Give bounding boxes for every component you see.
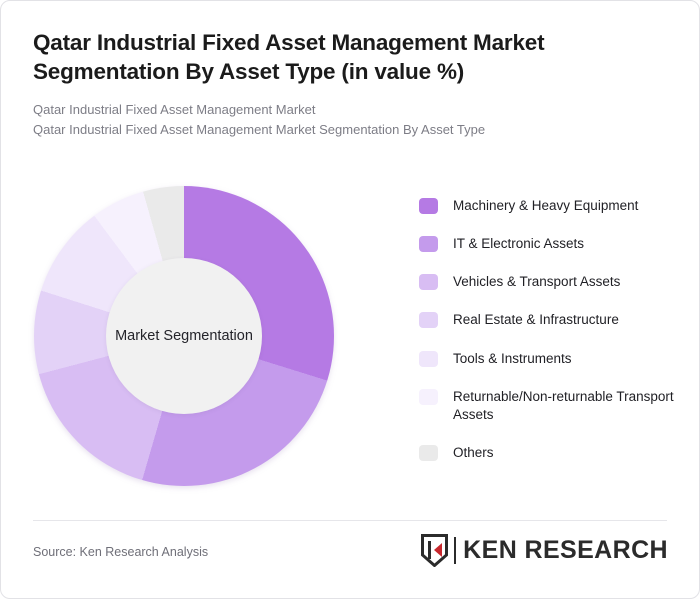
legend-swatch — [419, 274, 438, 290]
legend-item[interactable]: Vehicles & Transport Assets — [419, 273, 679, 292]
chart-card: Qatar Industrial Fixed Asset Management … — [0, 0, 700, 599]
legend-item[interactable]: Machinery & Heavy Equipment — [419, 197, 679, 216]
legend-item[interactable]: Real Estate & Infrastructure — [419, 311, 679, 330]
subtitle-block: Qatar Industrial Fixed Asset Management … — [33, 100, 669, 140]
legend-item[interactable]: IT & Electronic Assets — [419, 235, 679, 254]
donut-center: Market Segmentation — [106, 258, 262, 414]
footer-divider — [33, 520, 667, 521]
legend-label: Machinery & Heavy Equipment — [453, 197, 638, 216]
legend-item[interactable]: Tools & Instruments — [419, 350, 679, 369]
ken-research-logo: KEN RESEARCH — [421, 533, 668, 567]
legend-label: Vehicles & Transport Assets — [453, 273, 620, 292]
logo-wordmark: KEN RESEARCH — [463, 538, 668, 563]
legend-swatch — [419, 351, 438, 367]
legend-label: Returnable/Non-returnable Transport Asse… — [453, 388, 679, 425]
logo-separator — [454, 537, 456, 564]
donut-center-label: Market Segmentation — [107, 327, 261, 345]
logo-shield-icon — [421, 534, 448, 567]
chart-header: Qatar Industrial Fixed Asset Management … — [33, 29, 669, 140]
legend-label: IT & Electronic Assets — [453, 235, 584, 254]
legend-item[interactable]: Returnable/Non-returnable Transport Asse… — [419, 388, 679, 425]
page-title: Qatar Industrial Fixed Asset Management … — [33, 29, 669, 87]
legend-swatch — [419, 236, 438, 252]
subtitle-line-2: Qatar Industrial Fixed Asset Management … — [33, 120, 669, 140]
shield-k-icon — [421, 534, 448, 567]
legend-swatch — [419, 198, 438, 214]
source-note: Source: Ken Research Analysis — [33, 545, 208, 559]
legend-label: Real Estate & Infrastructure — [453, 311, 619, 330]
legend-swatch — [419, 445, 438, 461]
subtitle-line-1: Qatar Industrial Fixed Asset Management … — [33, 100, 669, 120]
legend-label: Tools & Instruments — [453, 350, 572, 369]
legend-item[interactable]: Others — [419, 444, 679, 463]
legend-swatch — [419, 312, 438, 328]
chart-legend: Machinery & Heavy EquipmentIT & Electron… — [419, 197, 679, 463]
legend-swatch — [419, 389, 438, 405]
donut-chart: Market Segmentation — [34, 186, 334, 486]
legend-label: Others — [453, 444, 494, 463]
